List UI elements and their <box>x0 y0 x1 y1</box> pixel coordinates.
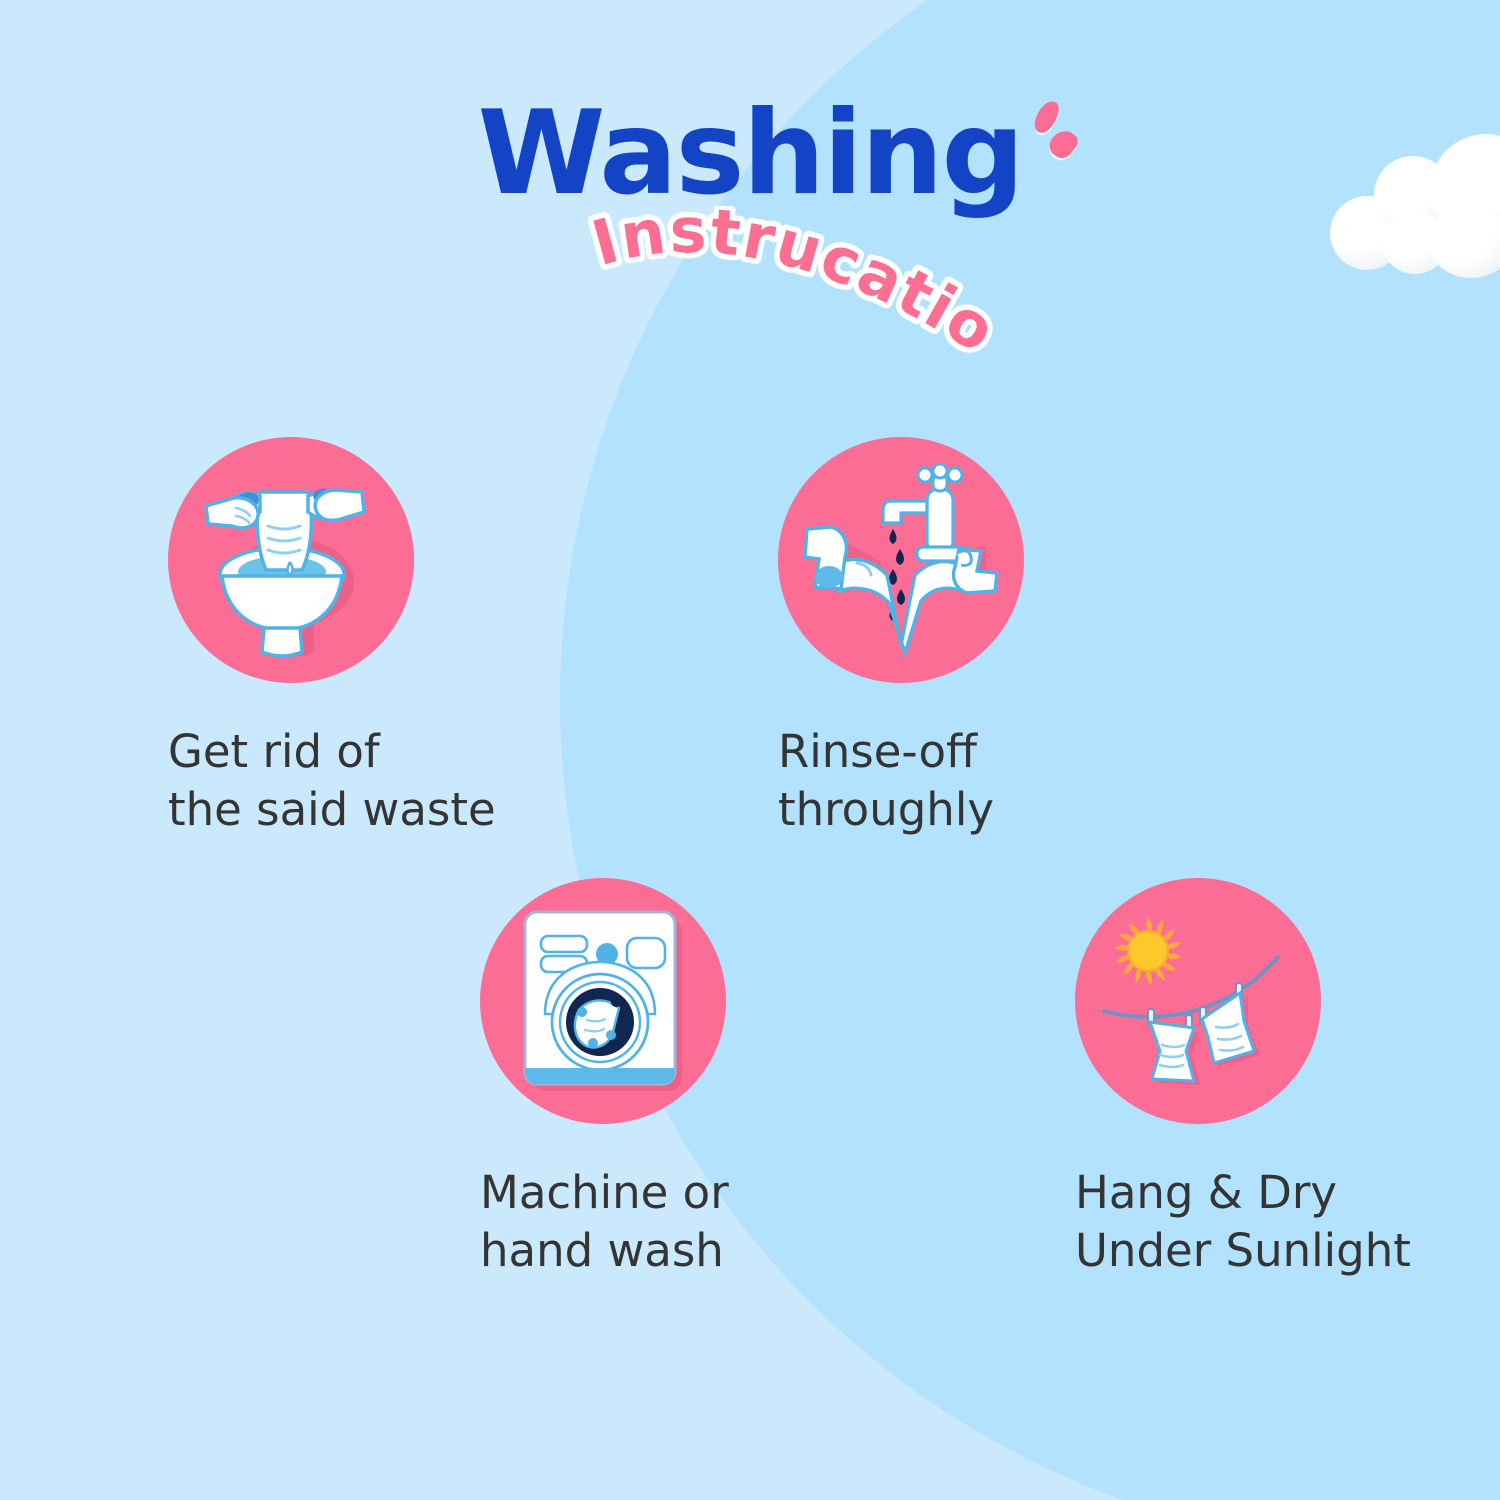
step-badge-3 <box>480 878 726 1124</box>
step-item-3: Machine or hand wash <box>480 878 729 1279</box>
step-item-2: Rinse-off throughly <box>778 437 1024 838</box>
washing-machine-icon <box>519 907 687 1095</box>
washing-instructions-poster: Washing Instrucation <box>0 0 1500 1500</box>
toilet-flush-waste-icon <box>196 460 386 660</box>
step-item-4: Hang & Dry Under Sunlight <box>1075 878 1411 1279</box>
step-badge-2 <box>778 437 1024 683</box>
step-badge-4 <box>1075 878 1321 1124</box>
step-label-2: Rinse-off throughly <box>778 723 1024 838</box>
step-label-1: Get rid of the said waste <box>168 723 496 838</box>
clothesline-sun-icon <box>1098 911 1298 1091</box>
step-label-4: Hang & Dry Under Sunlight <box>1075 1164 1411 1279</box>
step-item-1: Get rid of the said waste <box>168 437 496 838</box>
faucet-rinse-icon <box>801 463 1001 658</box>
step-label-3: Machine or hand wash <box>480 1164 729 1279</box>
steps-container: Get rid of the said waste <box>0 0 1500 1500</box>
step-badge-1 <box>168 437 414 683</box>
